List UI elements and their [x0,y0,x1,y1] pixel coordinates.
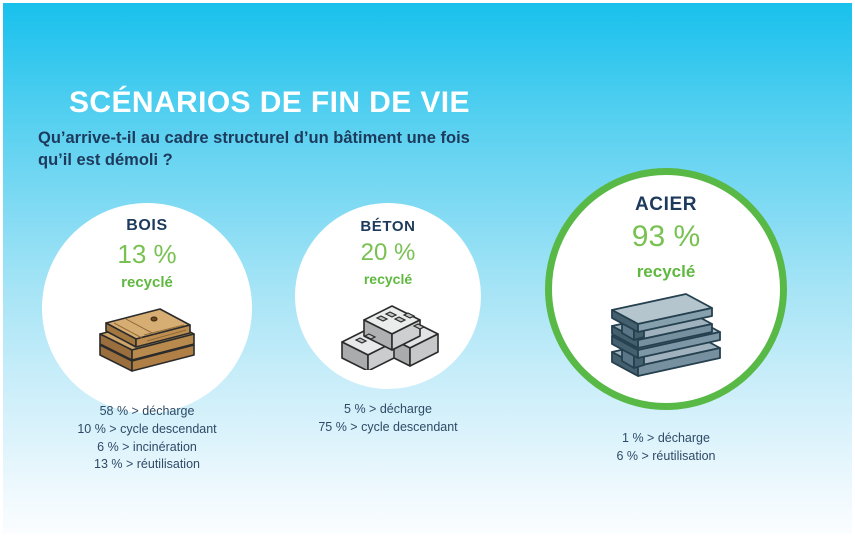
infographic-canvas: SCÉNARIOS DE FIN DE VIE Qu’arrive-t-il a… [0,0,855,537]
material-stats-beton: 5 % > décharge 75 % > cycle descendant [295,401,481,437]
material-name-acier: ACIER [545,194,787,216]
concrete-blocks-icon [336,296,440,370]
page-title: SCÉNARIOS DE FIN DE VIE [69,86,470,120]
steel-beams-icon-wrap [545,290,787,386]
material-percent-bois: 13 % [42,239,252,270]
stat-line: 13 % > réutilisation [42,456,252,474]
material-stats-bois: 58 % > décharge 10 % > cycle descendant … [42,403,252,474]
material-recycled-label-bois: recyclé [42,274,252,291]
steel-beams-icon [604,290,728,386]
material-card-bois: BOIS 13 % recyclé [42,203,252,413]
stat-line: 5 % > décharge [295,401,481,419]
page-subtitle: Qu’arrive-t-il au cadre structurel d’un … [38,128,508,172]
material-card-beton: BÉTON 20 % recyclé [295,203,481,389]
stat-line: 58 % > décharge [42,403,252,421]
material-recycled-label-beton: recyclé [295,271,481,287]
material-recycled-label-acier: recyclé [545,262,787,282]
material-stats-acier: 1 % > décharge 6 % > réutilisation [545,430,787,466]
stat-line: 75 % > cycle descendant [295,419,481,437]
material-card-acier: ACIER 93 % recyclé [545,168,787,410]
material-percent-beton: 20 % [295,239,481,267]
wood-planks-icon-wrap [42,301,252,373]
concrete-blocks-icon-wrap [295,296,481,370]
stat-line: 6 % > incinération [42,439,252,457]
material-percent-acier: 93 % [545,220,787,254]
stat-line: 1 % > décharge [545,430,787,448]
stat-line: 10 % > cycle descendant [42,421,252,439]
stat-line: 6 % > réutilisation [545,448,787,466]
wood-planks-icon [92,301,202,373]
material-name-beton: BÉTON [295,218,481,235]
material-name-bois: BOIS [42,217,252,235]
